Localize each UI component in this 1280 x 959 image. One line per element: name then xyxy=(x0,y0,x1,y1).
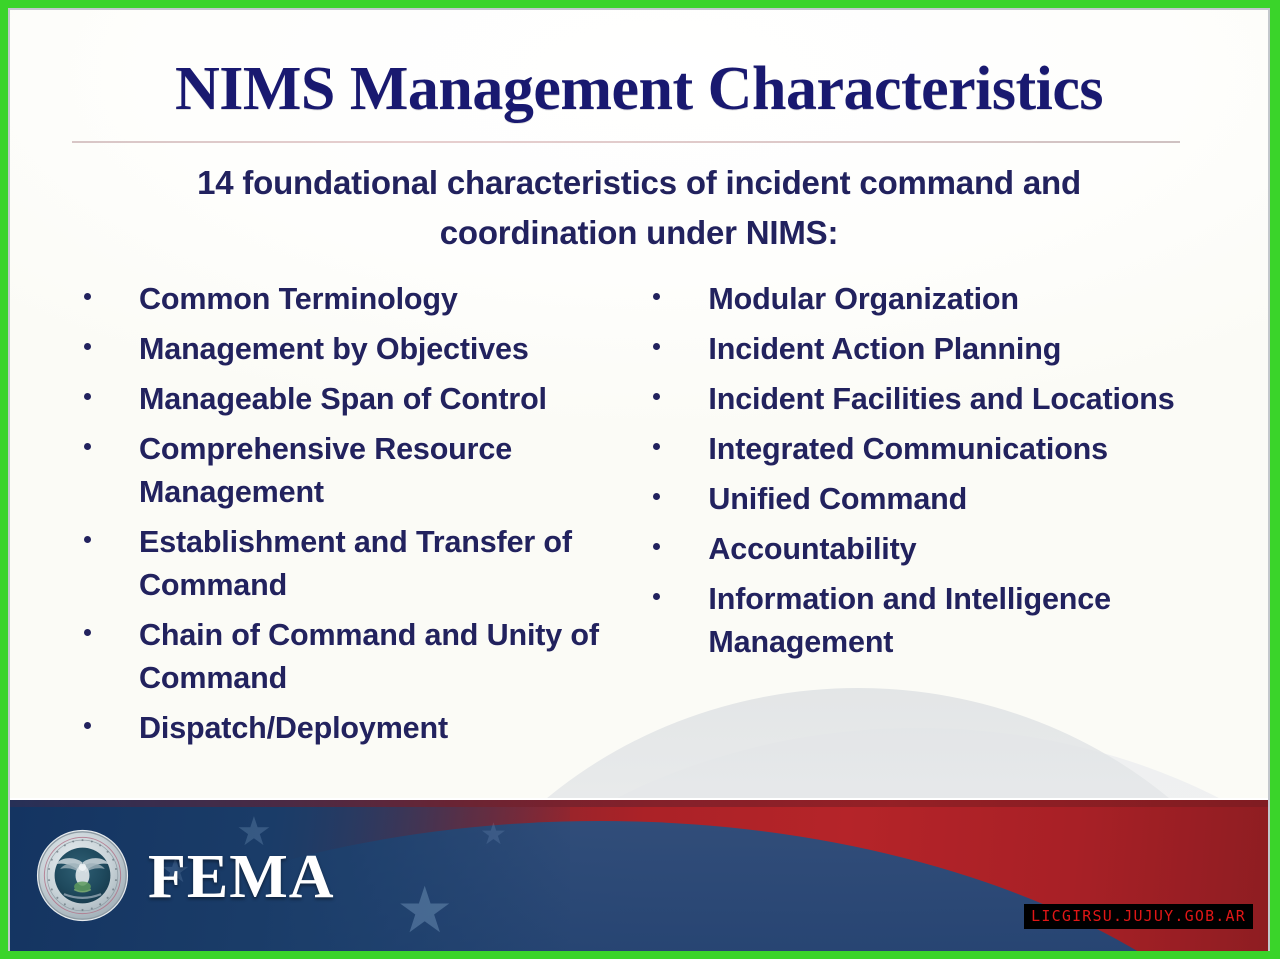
list-item-label: Information and Intelligence Management xyxy=(662,578,1228,664)
list-item-label: Modular Organization xyxy=(662,278,1228,321)
list-item: Chain of Command and Unity of Command xyxy=(84,614,619,700)
list-item-label: Common Terminology xyxy=(93,278,619,321)
source-watermark: LICGIRSU.JUJUY.GOB.AR xyxy=(1024,904,1253,929)
list-item-label: Incident Action Planning xyxy=(662,328,1228,371)
list-item: Dispatch/Deployment xyxy=(84,707,619,750)
page-subtitle: 14 foundational characteristics of incid… xyxy=(100,158,1178,258)
list-item: Unified Command xyxy=(653,478,1228,521)
characteristics-column-right: Modular Organization Incident Action Pla… xyxy=(639,278,1268,757)
characteristics-columns: Common Terminology Management by Objecti… xyxy=(10,278,1268,757)
list-item: Information and Intelligence Management xyxy=(653,578,1228,664)
list-item: Modular Organization xyxy=(653,278,1228,321)
list-item: Management by Objectives xyxy=(84,328,619,371)
list-item-label: Unified Command xyxy=(662,478,1228,521)
list-item-label: Incident Facilities and Locations xyxy=(662,378,1228,421)
list-item-label: Accountability xyxy=(662,528,1228,571)
list-item: Establishment and Transfer of Command xyxy=(84,521,619,607)
star-icon: ★ xyxy=(480,820,507,850)
list-item: Common Terminology xyxy=(84,278,619,321)
star-icon: ★ xyxy=(396,878,453,942)
dhs-seal-icon xyxy=(36,829,129,922)
characteristics-column-left: Common Terminology Management by Objecti… xyxy=(10,278,639,757)
list-item-label: Management by Objectives xyxy=(93,328,619,371)
list-item-label: Chain of Command and Unity of Command xyxy=(93,614,619,700)
list-item-label: Establishment and Transfer of Command xyxy=(93,521,619,607)
list-item: Comprehensive Resource Management xyxy=(84,428,619,514)
list-item: Manageable Span of Control xyxy=(84,378,619,421)
list-item-label: Comprehensive Resource Management xyxy=(93,428,619,514)
list-item-label: Dispatch/Deployment xyxy=(93,707,619,750)
slide-content-area: NIMS Management Characteristics 14 found… xyxy=(10,10,1268,798)
list-item: Incident Facilities and Locations xyxy=(653,378,1228,421)
list-item: Incident Action Planning xyxy=(653,328,1228,371)
slide-frame: NIMS Management Characteristics 14 found… xyxy=(0,0,1280,959)
title-divider xyxy=(72,141,1180,143)
page-title: NIMS Management Characteristics xyxy=(10,52,1268,126)
banner-top-edge xyxy=(10,800,1268,807)
list-item: Accountability xyxy=(653,528,1228,571)
fema-wordmark: FEMA xyxy=(148,845,335,909)
list-item-label: Integrated Communications xyxy=(662,428,1228,471)
list-item-label: Manageable Span of Control xyxy=(93,378,619,421)
slide-canvas: NIMS Management Characteristics 14 found… xyxy=(8,8,1270,951)
fema-footer-banner: ★ ★ ★ ★ xyxy=(10,800,1268,951)
list-item: Integrated Communications xyxy=(653,428,1228,471)
